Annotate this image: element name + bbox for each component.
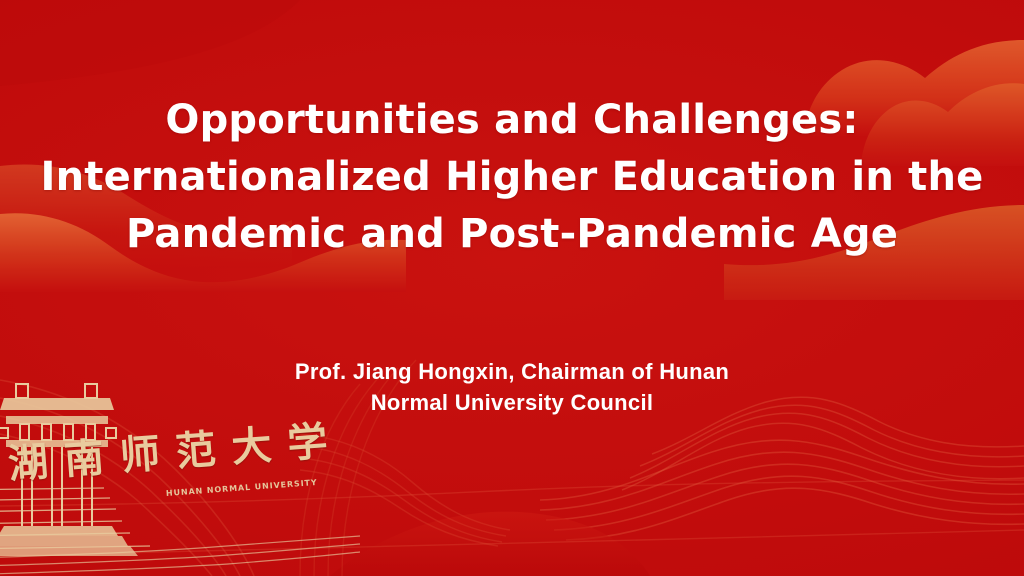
slide-subtitle: Prof. Jiang Hongxin, Chairman of Hunan N…: [0, 356, 1024, 418]
title-line-3: Pandemic and Post-Pandemic Age: [0, 206, 1024, 263]
title-line-2: Internationalized Higher Education in th…: [0, 149, 1024, 206]
subtitle-line-1: Prof. Jiang Hongxin, Chairman of Hunan: [0, 356, 1024, 387]
wave-lines-right: [540, 440, 1024, 540]
hill-bottom-center: [330, 512, 650, 576]
subtitle-line-2: Normal University Council: [0, 387, 1024, 418]
title-line-1: Opportunities and Challenges:: [0, 92, 1024, 149]
slide-title: Opportunities and Challenges: Internatio…: [0, 92, 1024, 263]
corner-shade-top-left: [0, 0, 300, 86]
title-slide: 湖南师范大学 HUNAN NORMAL UNIVERSITY Opportuni…: [0, 0, 1024, 576]
